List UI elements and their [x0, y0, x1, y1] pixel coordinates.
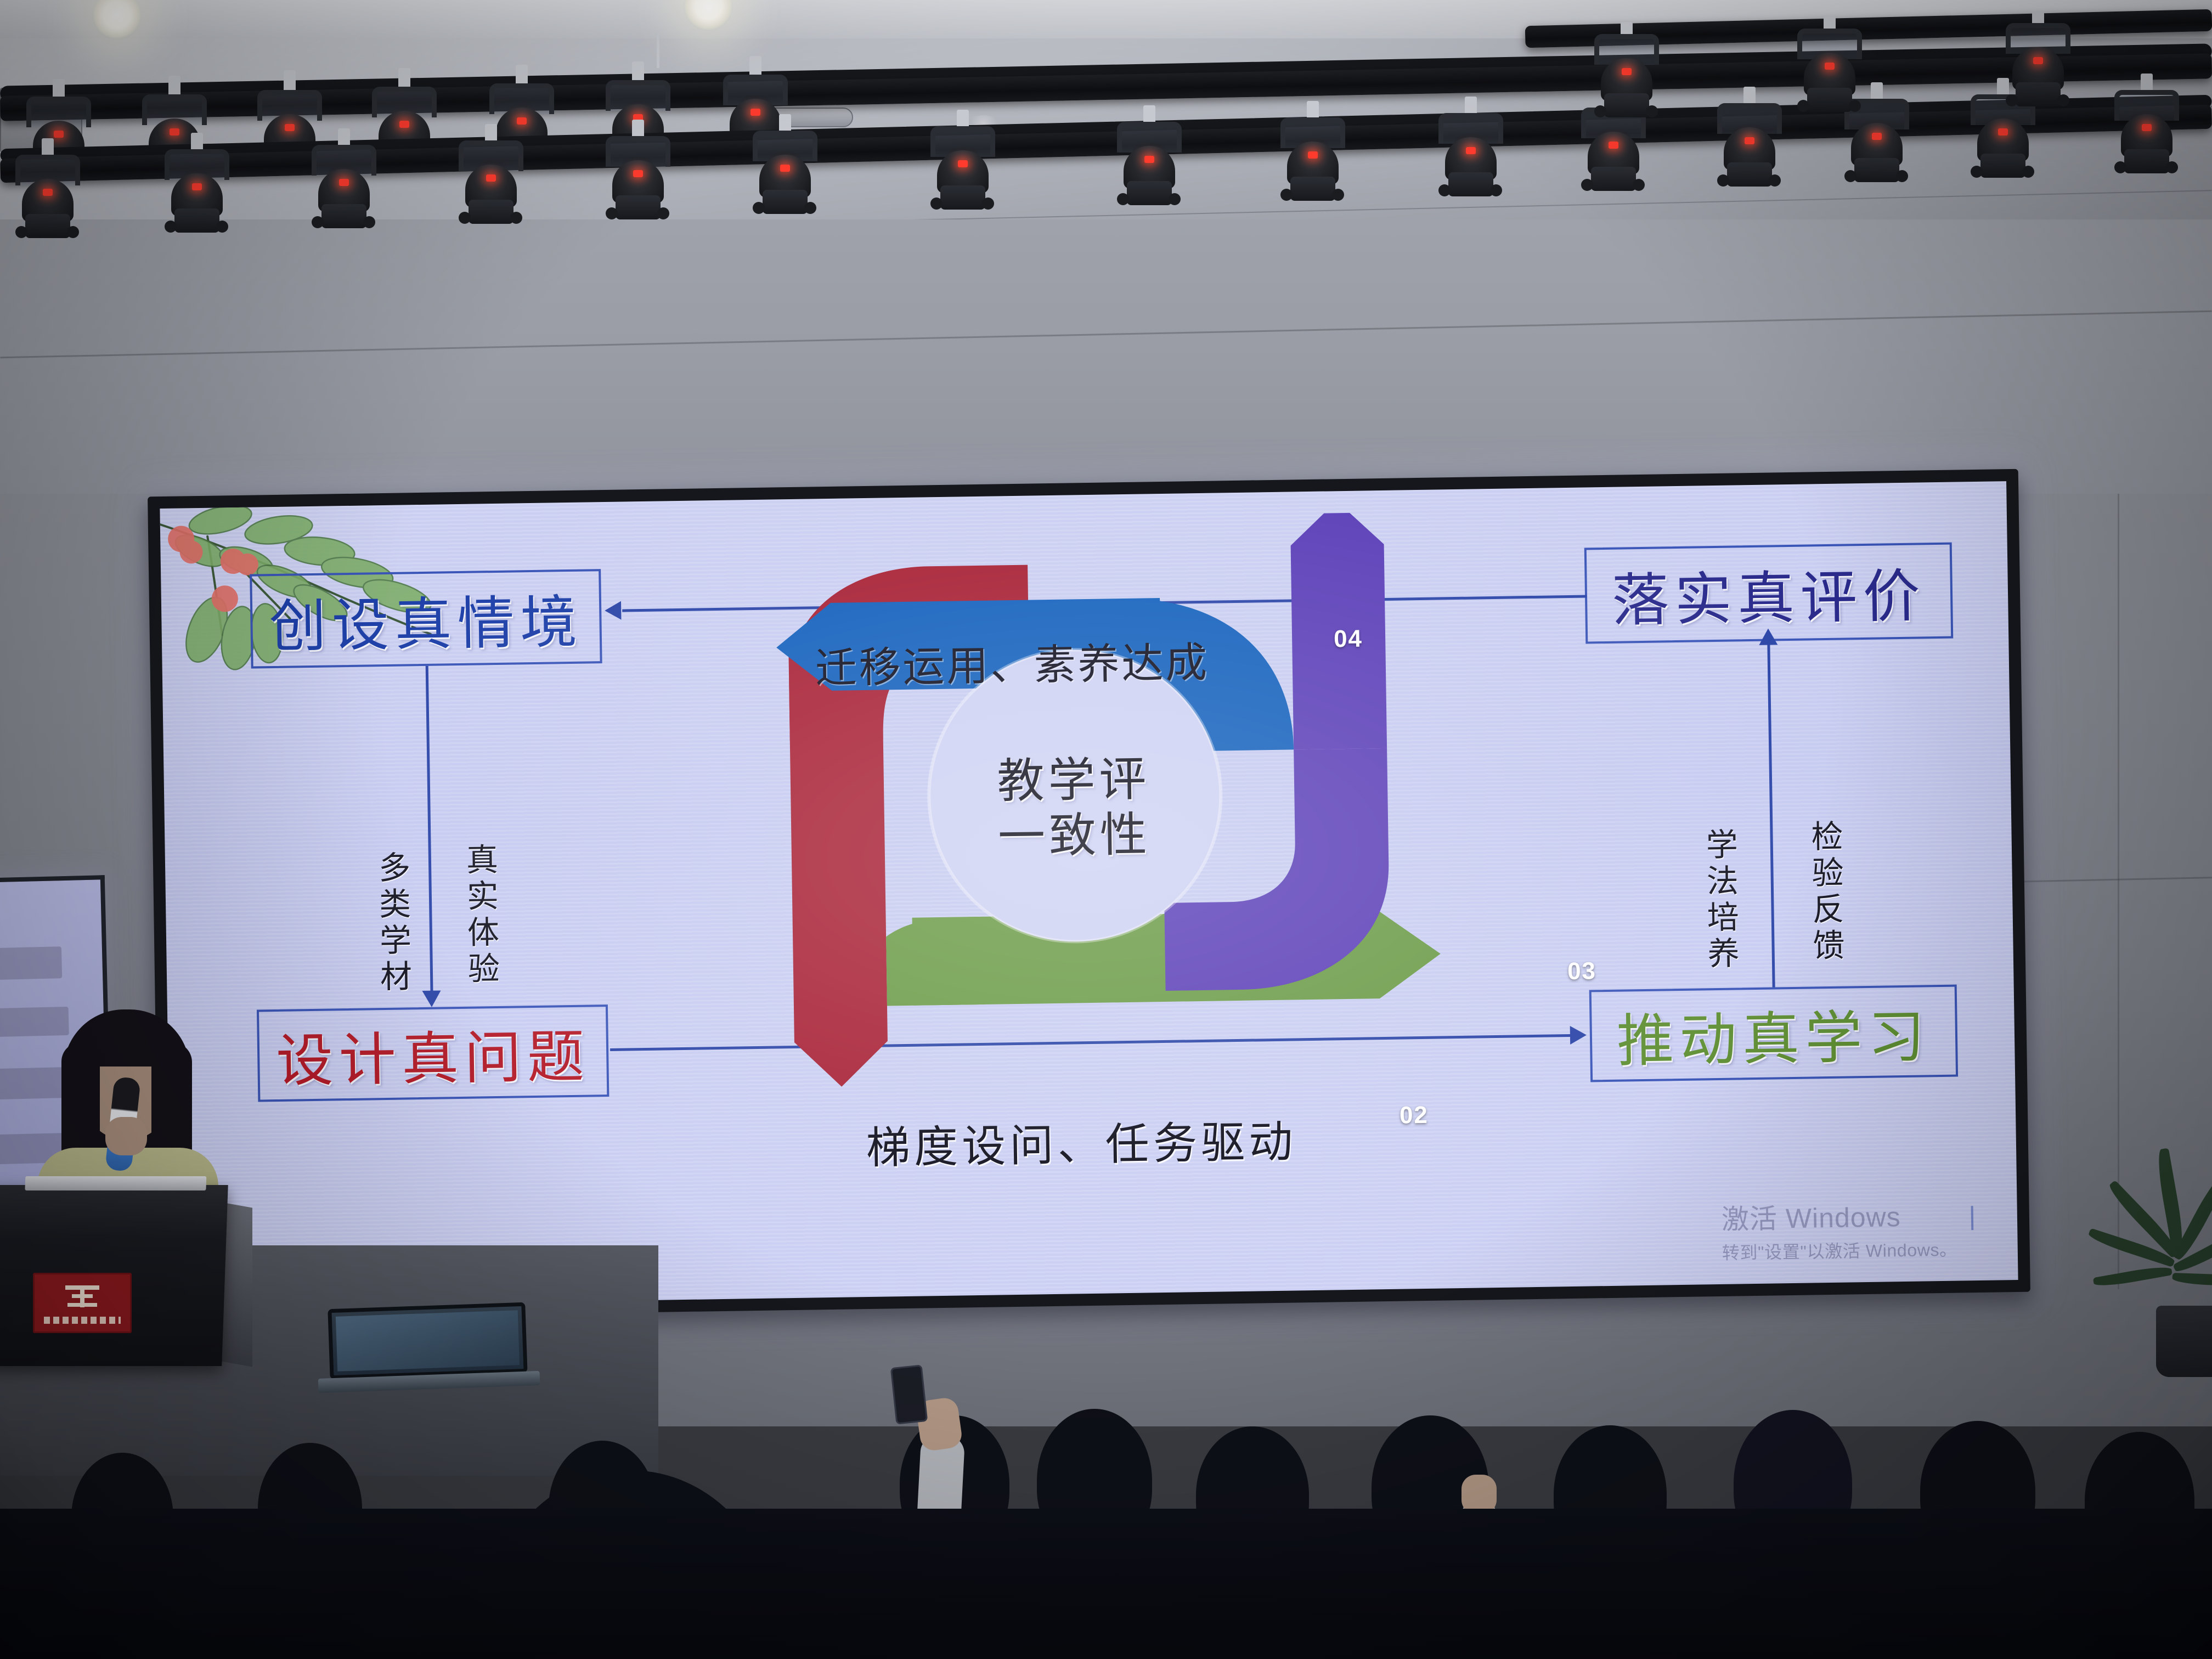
- stage-light-fixture: [1435, 113, 1506, 195]
- center-line-2: 一致性: [932, 806, 1217, 866]
- node-label: 创设真情境: [268, 575, 583, 662]
- step-marker-04: 04: [1334, 625, 1363, 653]
- node-create-real-context[interactable]: 创设真情境: [250, 569, 602, 668]
- node-label: 落实真评价: [1611, 549, 1926, 636]
- watermark-line-1: 激活 Windows: [1721, 1194, 1957, 1237]
- stage-light-fixture: [161, 149, 233, 232]
- label-multi-type-materials: 多类学材: [368, 850, 416, 996]
- stage-light-fixture: [749, 131, 821, 213]
- crest-text: [44, 1317, 121, 1324]
- step-marker-03: 03: [1567, 957, 1596, 985]
- node-design-real-questions[interactable]: 设计真问题: [257, 1005, 609, 1102]
- node-label: 设计真问题: [275, 1009, 590, 1097]
- bottom-caption: 梯度设问、任务驱动: [866, 1106, 1297, 1176]
- arrowhead-up: [1759, 628, 1778, 645]
- truss-drop-rod: [657, 30, 659, 68]
- stage-light-fixture: [1714, 103, 1785, 185]
- watermark-line-2: 转到"设置"以激活 Windows。: [1722, 1236, 1958, 1265]
- label-verification-feedback: 检验反馈: [1801, 819, 1849, 965]
- center-line-1: 教学评: [930, 751, 1216, 811]
- edge-tl-to-bl: [426, 666, 433, 993]
- stage-light-fixture: [455, 140, 527, 223]
- led-wall-screen: 创设真情境 落实真评价 设计真问题 推动真学习: [148, 469, 2030, 1319]
- conference-hall-photo: 创设真情境 落实真评价 设计真问题 推动真学习: [0, 0, 2212, 1659]
- presentation-slide: 创设真情境 落实真评价 设计真问题 推动真学习: [160, 481, 2018, 1307]
- node-label: 推动真学习: [1616, 990, 1931, 1077]
- center-label: 教学评 一致性: [930, 751, 1217, 867]
- arrowhead-left: [605, 601, 622, 620]
- stage-light-fixture: [1578, 108, 1649, 190]
- stage-light-fixture: [12, 155, 83, 237]
- stage-light-fixture: [1277, 117, 1348, 200]
- chevron-label: 迁移运用、素养达成: [815, 629, 1210, 695]
- label-authentic-experience: 真实体验: [455, 843, 504, 989]
- stage-light-fixture: [308, 145, 380, 227]
- edge-br-to-tr: [1767, 643, 1775, 988]
- text-cursor: [1971, 1206, 1974, 1230]
- stage-light-fixture: [1114, 122, 1185, 204]
- stage-light-fixture: [927, 126, 998, 208]
- node-drive-real-learning[interactable]: 推动真学习: [1589, 985, 1958, 1082]
- stage-light-fixture: [1794, 29, 1865, 111]
- stage-light-fixture: [2002, 23, 2074, 105]
- stage-light-fixture: [1967, 94, 2039, 177]
- presenter-laptop: [328, 1302, 528, 1397]
- crest-mark: [65, 1282, 99, 1313]
- stage-light-fixture: [2111, 90, 2182, 172]
- step-marker-02: 02: [1400, 1102, 1429, 1130]
- arrowhead-right: [1570, 1026, 1587, 1045]
- arrowhead-down: [422, 991, 441, 1008]
- potted-plant: [2090, 1130, 2212, 1383]
- slide-surface: 创设真情境 落实真评价 设计真问题 推动真学习: [160, 481, 2018, 1307]
- label-learning-method-cultivation: 学法培养: [1695, 827, 1743, 973]
- stage-light-fixture: [1591, 34, 1662, 116]
- windows-activation-watermark: 激活 Windows 转到"设置"以激活 Windows。: [1721, 1194, 1957, 1265]
- school-crest-emblem: [33, 1273, 132, 1333]
- stage-light-fixture: [602, 136, 674, 218]
